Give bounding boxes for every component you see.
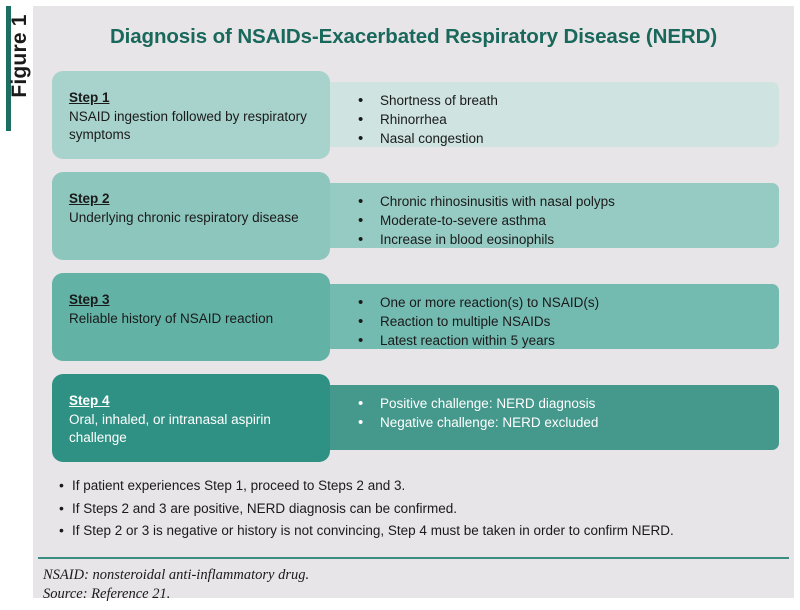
step-row: Positive challenge: NERD diagnosis Negat… <box>33 372 794 473</box>
list-item: Reaction to multiple NSAIDs <box>356 312 779 331</box>
list-item: Moderate-to-severe asthma <box>356 211 779 230</box>
list-item: Increase in blood eosinophils <box>356 230 779 249</box>
step-1-box: Step 1 NSAID ingestion followed by respi… <box>52 71 330 159</box>
list-item: Chronic rhinosinusitis with nasal polyps <box>356 192 779 211</box>
list-item: One or more reaction(s) to NSAID(s) <box>356 293 779 312</box>
list-item: Negative challenge: NERD excluded <box>356 413 779 432</box>
step-2-box: Step 2 Underlying chronic respiratory di… <box>52 172 330 260</box>
step-2-criteria-panel: Chronic rhinosinusitis with nasal polyps… <box>318 183 779 248</box>
list-item: Positive challenge: NERD diagnosis <box>356 394 779 413</box>
list-item: Nasal congestion <box>356 129 779 148</box>
note-item: If Steps 2 and 3 are positive, NERD diag… <box>59 499 774 519</box>
figure-tab-label: Figure 1 <box>8 0 32 120</box>
list-item: Shortness of breath <box>356 91 779 110</box>
abbreviation-note: NSAID: nonsteroidal anti-inflammatory dr… <box>43 566 773 585</box>
step-3-bullet-list: One or more reaction(s) to NSAID(s) Reac… <box>356 293 779 350</box>
step-1-criteria-panel: Shortness of breath Rhinorrhea Nasal con… <box>318 82 779 147</box>
list-item: Latest reaction within 5 years <box>356 331 779 350</box>
step-4-criteria-panel: Positive challenge: NERD diagnosis Negat… <box>318 385 779 450</box>
step-3-description: Reliable history of NSAID reaction <box>69 310 316 328</box>
step-4-title: Step 4 <box>69 392 110 409</box>
step-4-bullet-list: Positive challenge: NERD diagnosis Negat… <box>356 394 779 432</box>
footnote-block: NSAID: nonsteroidal anti-inflammatory dr… <box>43 566 773 605</box>
step-3-criteria-panel: One or more reaction(s) to NSAID(s) Reac… <box>318 284 779 349</box>
step-3-title: Step 3 <box>69 291 110 308</box>
step-3-box: Step 3 Reliable history of NSAID reactio… <box>52 273 330 361</box>
step-2-description: Underlying chronic respiratory disease <box>69 209 316 227</box>
step-4-description: Oral, inhaled, or intranasal aspirin cha… <box>69 411 316 446</box>
interpretation-notes: If patient experiences Step 1, proceed t… <box>59 476 774 544</box>
step-row: Shortness of breath Rhinorrhea Nasal con… <box>33 69 794 170</box>
list-item: Rhinorrhea <box>356 110 779 129</box>
footnote-divider <box>38 557 789 559</box>
step-4-box: Step 4 Oral, inhaled, or intranasal aspi… <box>52 374 330 462</box>
step-1-bullet-list: Shortness of breath Rhinorrhea Nasal con… <box>356 91 779 148</box>
step-row: One or more reaction(s) to NSAID(s) Reac… <box>33 271 794 372</box>
page-title: Diagnosis of NSAIDs-Exacerbated Respirat… <box>33 25 794 49</box>
step-2-bullet-list: Chronic rhinosinusitis with nasal polyps… <box>356 192 779 249</box>
figure-container: Figure 1 Diagnosis of NSAIDs-Exacerbated… <box>0 0 800 610</box>
step-row: Chronic rhinosinusitis with nasal polyps… <box>33 170 794 271</box>
step-1-description: NSAID ingestion followed by respiratory … <box>69 108 316 143</box>
step-2-title: Step 2 <box>69 190 110 207</box>
figure-panel: Diagnosis of NSAIDs-Exacerbated Respirat… <box>33 6 794 598</box>
note-item: If patient experiences Step 1, proceed t… <box>59 476 774 496</box>
note-item: If Step 2 or 3 is negative or history is… <box>59 521 774 541</box>
source-note: Source: Reference 21. <box>43 585 773 604</box>
step-1-title: Step 1 <box>69 89 110 106</box>
